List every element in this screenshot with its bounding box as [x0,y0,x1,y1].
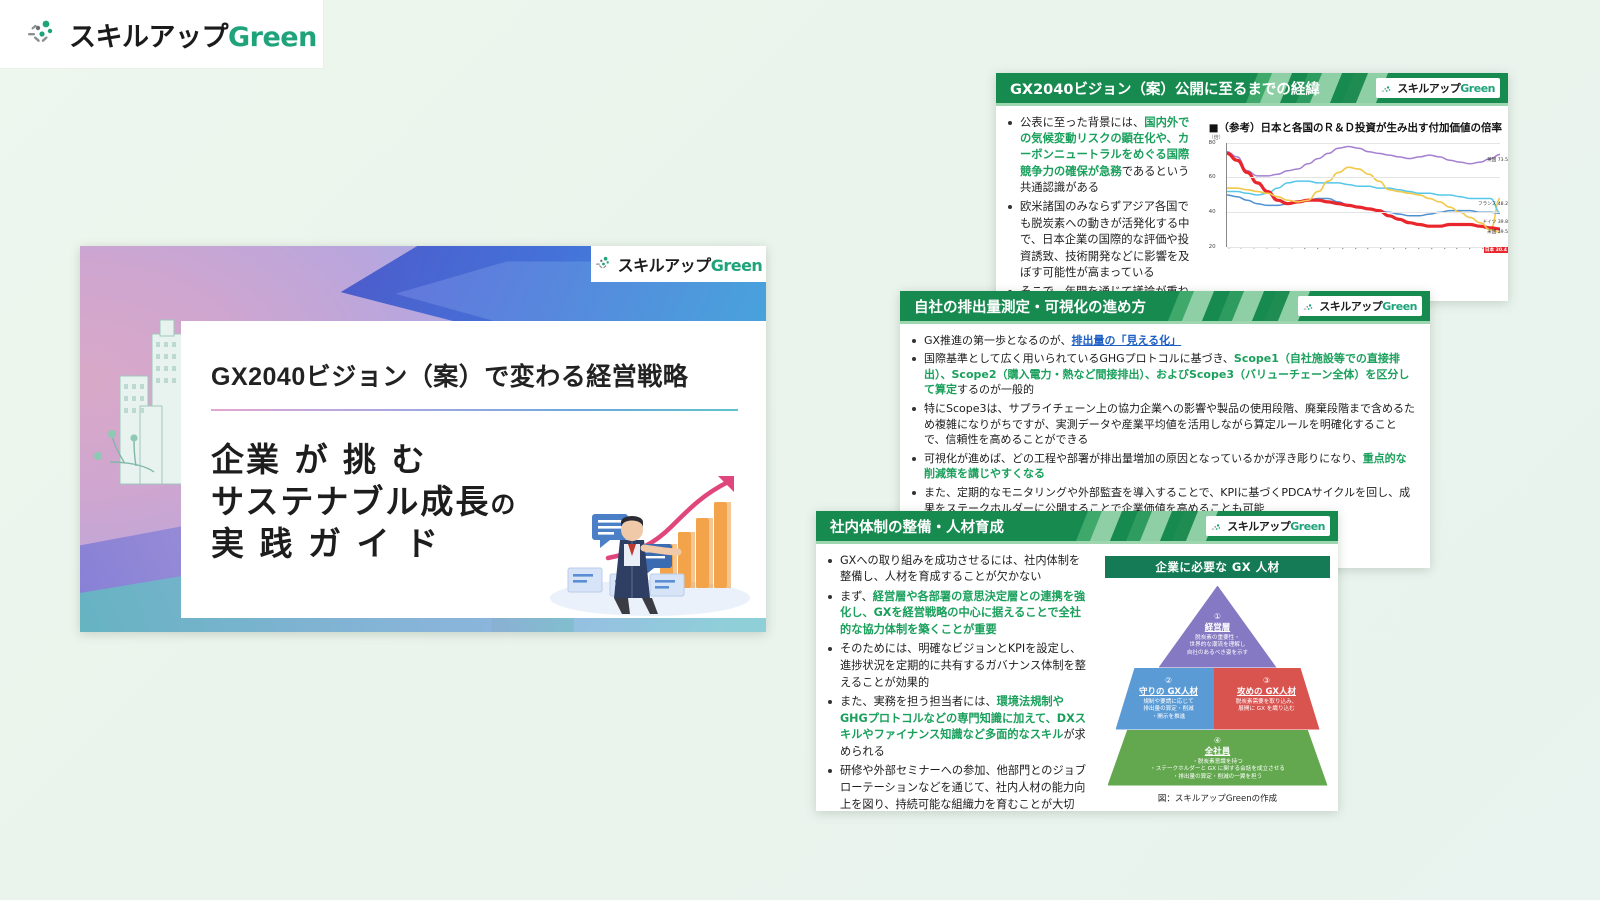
figure-title: ■（参考）日本と各国のＲ＆Ｄ投資が生み出す付加価値の倍率 [1209,120,1502,135]
chart-end-label: 米国 39.5 [1487,229,1508,235]
slide-heading: GX2040ビジョン（案）公開に至るまでの経緯 [996,78,1320,99]
bullet-item: また、実務を担う担当者には、環境法規制やGHGプロトコルなどの専門知識に加えて、… [840,694,1091,760]
bullet-item: そのためには、明確なビジョンとKPIを設定し、進捗状況を定期的に共有するガバナン… [840,641,1091,691]
sparkle-dots-icon [26,17,60,51]
slide-brand-text: スキルアップGreen [1227,518,1325,534]
chart-y-tick: 60 [1209,174,1216,180]
tier-name: 攻めの GX人材 [1214,685,1320,697]
tier-number: ④ [1108,736,1328,745]
bullet-text: 公表に至った背景には、 [1020,116,1144,129]
chart-gridline [1227,143,1500,144]
slide-brand-logo: スキルアップGreen [1206,516,1330,536]
pyramid-tier-1: ①経営層脱炭素の重要性・世界的な潮流を理解し自社のあるべき姿を示す [1159,586,1277,668]
bullet-text: まず、 [840,590,873,603]
bullet-list: GX推進の第一歩となるのが、排出量の「見える化」国際基準として広く用いられている… [900,324,1430,526]
brand-name-jp: スキルアップ [1227,520,1290,533]
tier-number: ① [1159,612,1277,621]
tier-number: ③ [1214,676,1320,685]
tier-description: 規制や要請に応じて排出量の算定・削減・開示を推進 [1116,699,1222,722]
rd-investment-line-chart: （倍）2040608019941995199619971998199920002… [1209,143,1502,261]
brand-name-jp: スキルアップ [69,22,228,53]
bullet-item: 特にScope3は、サプライチェーン上の協力企業への影響や製品の使用段階、廃棄段… [924,401,1416,448]
chart-x-axis: 1994199519961997199819992000200120022003… [1226,248,1500,261]
slide-heading: 自社の排出量測定・可視化の進め方 [900,296,1146,317]
brand-name-en: Green [1382,300,1417,313]
bullet-item: 可視化が進めば、どの工程や部署が排出量増加の原因となっているかが浮き彫りになり、… [924,451,1416,482]
slide-figure-column: ■（参考）日本と各国のＲ＆Ｄ投資が生み出す付加価値の倍率 （倍）20406080… [1201,106,1508,301]
bullet-highlight-text: 経営層や各部署の意思決定層との連携を強化し、GXを経営戦略の中心に据えることで全… [840,590,1085,636]
slide-body: 公表に至った背景には、国内外での気候変動リスクの顕在化や、カーボンニュートラルを… [996,106,1508,301]
pyramid-column: 企業に必要な GX 人材 ①経営層脱炭素の重要性・世界的な潮流を理解し自社のある… [1101,544,1338,812]
sparkle-dots-icon [1211,520,1223,532]
bullet-list: 公表に至った背景には、国内外での気候変動リスクの顕在化や、カーボンニュートラルを… [996,106,1201,302]
bullet-item: 公表に至った背景には、国内外での気候変動リスクの顕在化や、カーボンニュートラルを… [1020,115,1191,197]
bullet-item: 研修や外部セミナーへの参加、他部門とのジョブローテーションなどを通じて、社内人材… [840,763,1091,811]
pyramid-tier-3: ③攻めの GX人材脱炭素需要を取り込み、展開に GX を織り込む [1214,668,1320,730]
pyramid-tier-2: ②守りの GX人材規制や要請に応じて排出量の算定・削減・開示を推進 [1116,668,1222,730]
brand-name-jp: スキルアップ [1319,300,1382,313]
pyramid-caption: 図：スキルアップGreenの作成 [1105,792,1330,804]
chart-end-label: 日本 30.4 [1484,247,1508,253]
brand-logo-text: スキルアップGreen [69,15,317,54]
businessman-growth-chart-icon [532,448,762,618]
chart-series-group [1227,143,1500,247]
tier-name: 守りの GX人材 [1116,685,1222,697]
bullet-list: GXへの取り組みを成功させるには、社内体制を整備し、人材を育成することが欠かない… [816,544,1101,812]
pyramid-tier-4: ④全社員・脱炭素意識を持つ・ステークホルダーと GX に関する会話を成立させる・… [1108,730,1328,786]
slide-gx2040-background[interactable]: GX2040ビジョン（案）公開に至るまでの経緯 スキルアップGreen 公表に至… [996,73,1508,301]
hero-subtitle-line-2-main: サステナブル成長 [211,482,490,521]
slide-header: GX2040ビジョン（案）公開に至るまでの経緯 スキルアップGreen [996,73,1508,103]
chart-plot-area [1226,143,1500,247]
chart-line-フランス [1227,167,1500,229]
bullet-text: 国際基準として広く用いられているGHGプロトコルに基づき、 [924,352,1234,365]
slide-bullets-column: GXへの取り組みを成功させるには、社内体制を整備し、人材を育成することが欠かない… [816,544,1101,812]
slide-header: 自社の排出量測定・可視化の進め方 スキルアップGreen [900,291,1430,321]
hero-brand-logo: スキルアップGreen [591,246,766,282]
slide-brand-text: スキルアップGreen [1397,80,1495,96]
chart-line-日本 [1227,153,1500,229]
brand-name-en: Green [1460,82,1495,95]
pyramid-title: 企業に必要な GX 人材 [1105,556,1330,578]
bullet-link-text[interactable]: 排出量の「見える化」 [1072,334,1182,347]
bullet-text: 可視化が進めば、どの工程や部署が排出量増加の原因となっているかが浮き彫りになり、 [924,452,1363,465]
brand-name-en: Green [228,22,317,53]
slide-bullets-column: 公表に至った背景には、国内外での気候変動リスクの顕在化や、カーボンニュートラルを… [996,106,1201,301]
bullet-item: 国際基準として広く用いられているGHGプロトコルに基づき、Scope1（自社施設… [924,351,1416,398]
slide-internal-structure-hr[interactable]: 社内体制の整備・人材育成 スキルアップGreen GXへの取り組みを成功させるに… [816,511,1338,811]
chart-end-label: 英国 73.5 [1487,157,1508,163]
bullet-item: GX推進の第一歩となるのが、排出量の「見える化」 [924,333,1416,349]
slide-heading: 社内体制の整備・人材育成 [816,516,1004,537]
bullet-text: GX推進の第一歩となるのが、 [924,334,1072,347]
tier-name: 全社員 [1108,745,1328,757]
slide-body: GXへの取り組みを成功させるには、社内体制を整備し、人材を育成することが欠かない… [816,544,1338,812]
chart-y-tick: 40 [1209,209,1216,215]
bullet-text: GXへの取り組みを成功させるには、社内体制を整備し、人材を育成することが欠かない [840,554,1080,584]
chart-end-label: ドイツ 39.8 [1483,219,1508,225]
gx-talent-pyramid: ①経営層脱炭素の重要性・世界的な潮流を理解し自社のあるべき姿を示す②守りの GX… [1108,586,1328,786]
bullet-text: そのためには、明確なビジョンとKPIを設定し、進捗状況を定期的に共有するガバナン… [840,642,1086,688]
chart-y-tick: 80 [1209,140,1216,146]
tier-name: 経営層 [1159,621,1277,633]
brand-name-en: Green [711,256,763,275]
slide-brand-logo: スキルアップGreen [1298,296,1422,316]
bullet-item: 欧米諸国のみならずアジア各国でも脱炭素への動きが活発化する中で、日本企業の国際的… [1020,199,1191,281]
tier-number: ② [1116,676,1222,685]
chart-gridline [1227,177,1500,178]
brand-name-en: Green [1290,520,1325,533]
sparkle-dots-icon [1303,300,1315,312]
hero-subtitle-line-2-tail: の [490,490,517,519]
sparkle-dots-icon [595,255,613,273]
bullet-text: また、実務を担う担当者には、 [840,695,997,708]
bullet-text: 欧米諸国のみならずアジア各国でも脱炭素への動きが活発化する中で、日本企業の国際的… [1020,200,1189,279]
bullet-item: まず、経営層や各部署の意思決定層との連携を強化し、GXを経営戦略の中心に据えるこ… [840,589,1091,639]
chart-y-tick: 20 [1209,244,1216,250]
brand-name-jp: スキルアップ [618,256,711,275]
slide-header: 社内体制の整備・人材育成 スキルアップGreen [816,511,1338,541]
bullet-item: GXへの取り組みを成功させるには、社内体制を整備し、人材を育成することが欠かない [840,553,1091,586]
hero-brand-text: スキルアップGreen [618,252,763,276]
brand-logo-chip: スキルアップGreen [0,0,323,68]
hero-text-card: GX2040ビジョン（案）で変わる経営戦略 企業 が 挑 む サステナブル成長の… [181,321,766,618]
hero-title: GX2040ビジョン（案）で変わる経営戦略 [181,321,766,393]
bullet-text: 特にScope3は、サプライチェーン上の協力企業への影響や製品の使用段階、廃棄段… [924,402,1415,446]
chart-end-label: フランス 48.2 [1478,201,1508,207]
slide-brand-text: スキルアップGreen [1319,298,1417,314]
bullet-text: 研修や外部セミナーへの参加、他部門とのジョブローテーションなどを通じて、社内人材… [840,764,1086,810]
tier-description: ・脱炭素意識を持つ・ステークホルダーと GX に関する会話を成立させる・排出量の… [1108,759,1328,782]
tier-description: 脱炭素需要を取り込み、展開に GX を織り込む [1214,699,1320,714]
brand-name-jp: スキルアップ [1397,82,1460,95]
hero-slide[interactable]: スキルアップGreen GX2040ビジョン（案）で変わる経営戦略 企業 が 挑… [80,246,766,632]
tier-description: 脱炭素の重要性・世界的な潮流を理解し自社のあるべき姿を示す [1159,635,1277,658]
slide-brand-logo: スキルアップGreen [1376,78,1500,98]
bullet-text: するのが一般的 [957,383,1034,396]
chart-gridline [1227,212,1500,213]
sparkle-dots-icon [1381,82,1393,94]
